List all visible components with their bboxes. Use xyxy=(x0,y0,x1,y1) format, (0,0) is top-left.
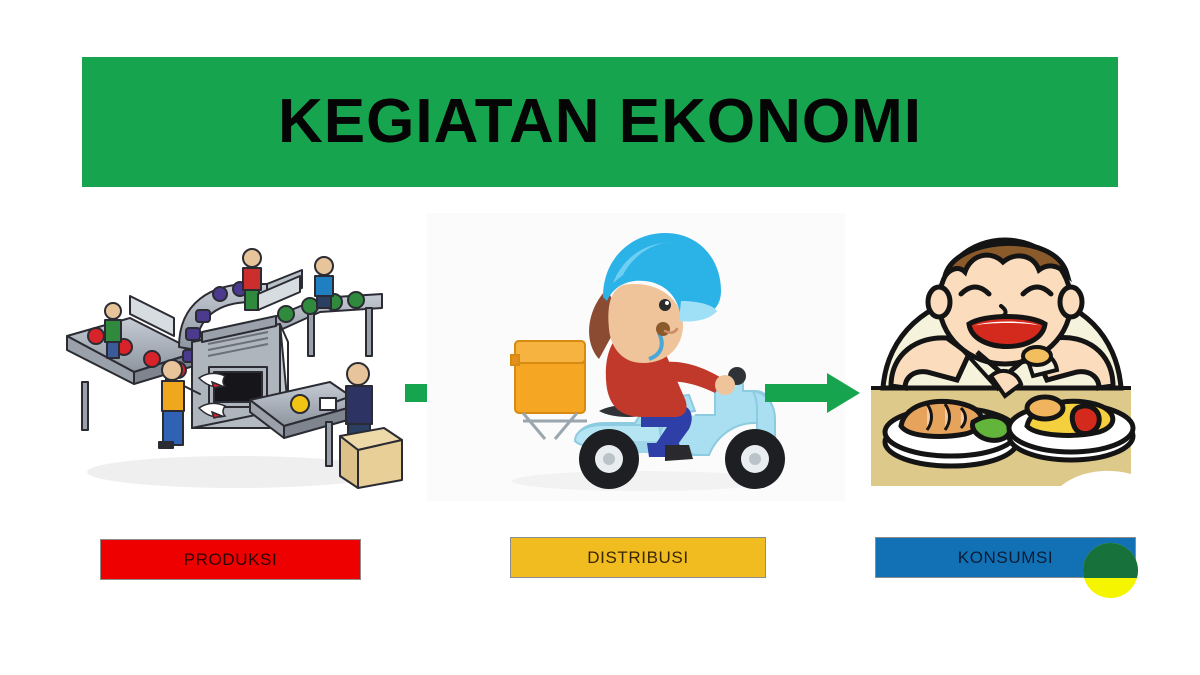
title-banner: KEGIATAN EKONOMI xyxy=(82,57,1118,187)
right-arrow-icon xyxy=(765,373,860,413)
factory-conveyor-svg xyxy=(62,232,412,500)
person-eating-illustration xyxy=(865,230,1137,502)
caption-label-produksi: PRODUKSI xyxy=(184,551,278,568)
person-eating-svg xyxy=(865,230,1137,502)
caption-label-konsumsi: KONSUMSI xyxy=(958,549,1053,566)
factory-conveyor-illustration xyxy=(62,232,412,500)
slide-canvas: KEGIATAN EKONOMI xyxy=(0,0,1200,675)
delivery-scooter-illustration xyxy=(427,213,845,501)
caption-bar-distribusi[interactable]: DISTRIBUSI xyxy=(510,537,766,578)
delivery-scooter-svg xyxy=(427,213,845,501)
arrow-distribusi-to-konsumsi xyxy=(765,373,860,413)
page-title: KEGIATAN EKONOMI xyxy=(278,91,922,153)
caption-label-distribusi: DISTRIBUSI xyxy=(587,549,688,566)
caption-bar-produksi[interactable]: PRODUKSI xyxy=(100,539,361,580)
